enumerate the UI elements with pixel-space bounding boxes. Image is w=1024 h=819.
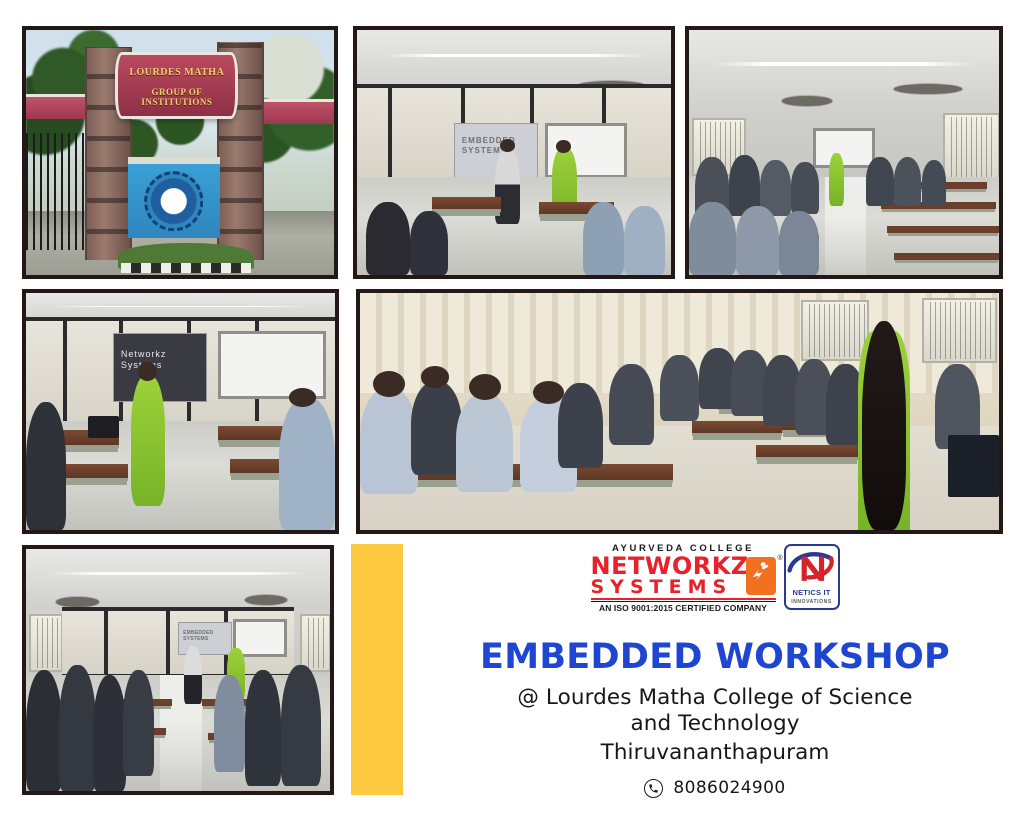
student bbox=[791, 162, 819, 213]
desk-row bbox=[887, 226, 999, 233]
student bbox=[624, 206, 665, 275]
venue-city: Thiruvananthapuram bbox=[410, 740, 1020, 765]
accent-bar bbox=[351, 544, 403, 795]
student bbox=[689, 202, 736, 276]
student-head bbox=[421, 366, 449, 387]
gate-sign-line1: LOURDES MATHA bbox=[118, 67, 235, 78]
student bbox=[410, 211, 448, 275]
student-head bbox=[289, 388, 317, 407]
presenter-male bbox=[184, 646, 202, 704]
networkz-systems-logo: AYURVEDA COLLEGE NETWORKZ SYSTEMS ® bbox=[591, 544, 776, 613]
logo-certification: AN ISO 9001:2015 CERTIFIED COMPANY bbox=[591, 601, 776, 613]
student bbox=[583, 202, 624, 276]
window bbox=[801, 300, 869, 361]
slide-text: Networkz Systems bbox=[121, 349, 206, 372]
desk bbox=[432, 197, 501, 212]
student bbox=[279, 397, 335, 530]
mullion bbox=[166, 611, 170, 674]
gate-wing-left bbox=[26, 94, 88, 119]
window bbox=[943, 113, 999, 181]
ceiling-fan bbox=[245, 595, 288, 605]
student bbox=[866, 157, 894, 206]
mullion bbox=[63, 321, 67, 435]
student bbox=[609, 364, 654, 445]
institution-seal bbox=[144, 171, 204, 231]
ceiling-fan bbox=[894, 84, 962, 94]
photo-classroom-presenters: EMBEDDED SYSTEMS bbox=[353, 26, 675, 279]
netics-tagline: INNOVATIONS bbox=[786, 599, 838, 605]
ceiling bbox=[689, 30, 999, 113]
venue-line-2: and Technology bbox=[410, 711, 1020, 736]
netics-n-mark bbox=[786, 548, 838, 586]
student bbox=[360, 388, 418, 495]
ceiling-fan bbox=[56, 597, 99, 607]
mullion bbox=[104, 611, 108, 674]
student bbox=[123, 670, 153, 776]
gate-wing-right bbox=[257, 99, 334, 124]
running-man-icon bbox=[746, 557, 776, 595]
venue-line-1: @ Lourdes Matha College of Science bbox=[410, 685, 1020, 710]
gate-emblem-plaque bbox=[128, 157, 220, 238]
student bbox=[558, 383, 603, 468]
student bbox=[922, 160, 947, 207]
desk-row bbox=[756, 445, 858, 460]
phone-icon bbox=[644, 779, 663, 798]
contact-row: 8086024900 bbox=[410, 778, 1020, 798]
page-title: EMBEDDED WORKSHOP bbox=[410, 637, 1020, 677]
trainer-female bbox=[131, 376, 165, 506]
laptop bbox=[948, 435, 999, 497]
netics-name: NETICS IT bbox=[786, 588, 838, 597]
whiteboard bbox=[813, 128, 875, 168]
iron-fence bbox=[26, 133, 85, 251]
student-head bbox=[469, 374, 501, 400]
desk-row bbox=[894, 253, 999, 260]
gate-sign-line2: GROUP OF INSTITUTIONS bbox=[118, 87, 235, 107]
student bbox=[93, 675, 126, 791]
mullion bbox=[388, 88, 392, 186]
gate-signboard: LOURDES MATHA GROUP OF INSTITUTIONS bbox=[115, 52, 238, 119]
trainer-female-head bbox=[556, 140, 570, 153]
window bbox=[300, 614, 330, 671]
ceiling-fan bbox=[782, 96, 832, 106]
window bbox=[29, 614, 63, 671]
student bbox=[59, 665, 95, 791]
student bbox=[456, 393, 514, 493]
logo-name-line1: NETWORKZ bbox=[591, 555, 749, 578]
photo-lecture-hall bbox=[685, 26, 1003, 279]
logo-rule bbox=[591, 598, 776, 600]
photo-students-wide bbox=[356, 289, 1003, 534]
student bbox=[411, 381, 462, 476]
student bbox=[366, 202, 410, 276]
presenter-male-head bbox=[500, 139, 514, 152]
registered-mark: ® bbox=[777, 555, 782, 562]
student-head bbox=[373, 371, 405, 397]
photo-trainer-slide: Networkz Systems bbox=[22, 289, 339, 534]
trainer-hair bbox=[862, 321, 907, 530]
slide-text: EMBEDDED SYSTEMS bbox=[183, 630, 231, 643]
photo-college-entrance: LOURDES MATHA GROUP OF INSTITUTIONS bbox=[22, 26, 338, 279]
photo-classroom-back: EMBEDDED SYSTEMS bbox=[22, 545, 334, 795]
netics-it-logo: NETICS IT INNOVATIONS bbox=[784, 544, 840, 610]
poster-canvas: LOURDES MATHA GROUP OF INSTITUTIONS EMBE… bbox=[0, 0, 1024, 819]
student bbox=[779, 211, 819, 275]
laptop bbox=[88, 416, 119, 437]
trainer-female bbox=[829, 153, 845, 207]
student bbox=[736, 206, 779, 275]
phone-number: 8086024900 bbox=[673, 778, 785, 798]
student bbox=[214, 675, 244, 772]
logo-row: AYURVEDA COLLEGE NETWORKZ SYSTEMS ® bbox=[410, 544, 1020, 613]
logo-name-line2: SYSTEMS bbox=[591, 578, 749, 597]
presenter-male bbox=[495, 148, 520, 224]
projector-screen: EMBEDDED SYSTEMS bbox=[178, 622, 232, 655]
info-panel: AYURVEDA COLLEGE NETWORKZ SYSTEMS ® bbox=[410, 540, 1020, 819]
window bbox=[922, 298, 996, 364]
student bbox=[26, 402, 66, 530]
student bbox=[894, 157, 922, 206]
painted-kerb bbox=[121, 263, 250, 273]
trainer-female-head bbox=[138, 362, 157, 381]
student bbox=[660, 355, 698, 421]
student bbox=[245, 670, 281, 786]
student bbox=[281, 665, 321, 786]
student bbox=[26, 670, 62, 791]
